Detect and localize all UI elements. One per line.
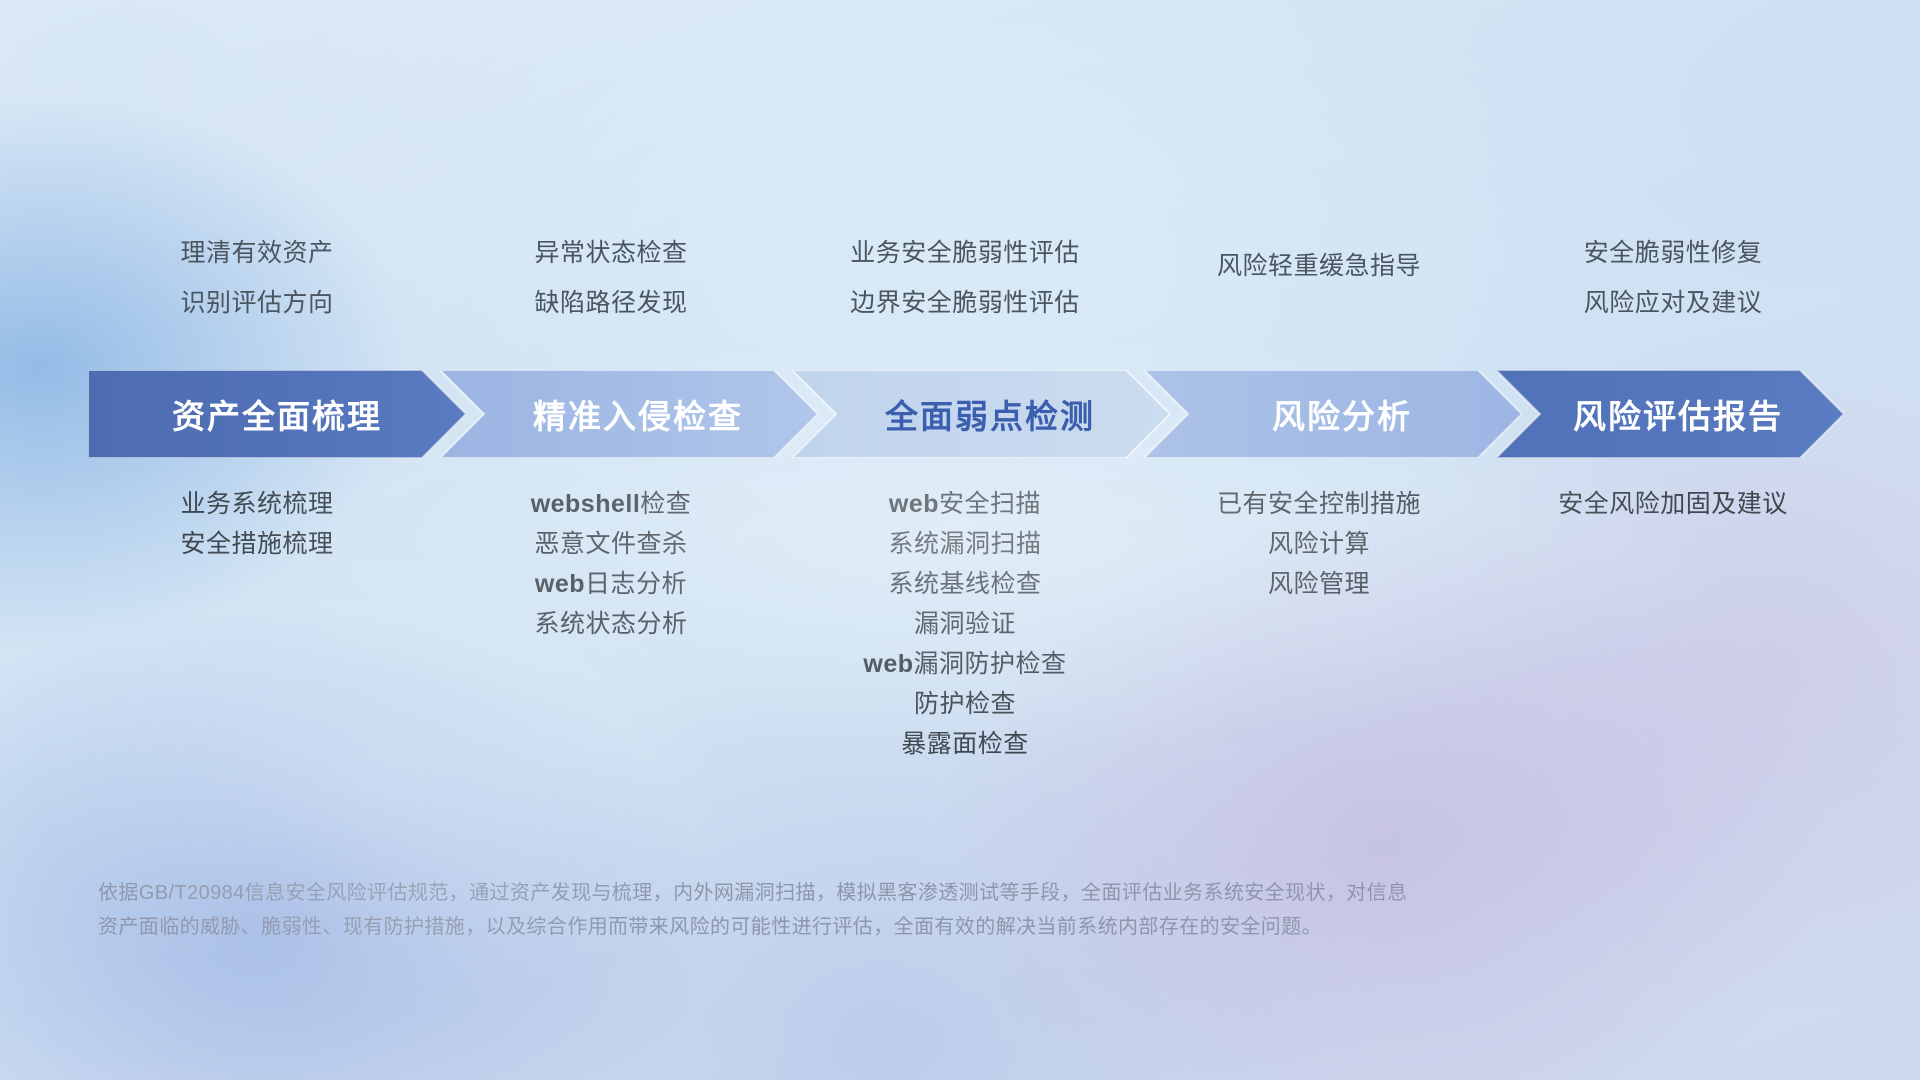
list-item: 恶意文件查杀 [434, 524, 788, 564]
list-item-rest: 日志分析 [585, 570, 687, 598]
list-item: 漏洞验证 [788, 604, 1142, 644]
list-item: 已有安全控制措施 [1142, 484, 1496, 524]
chevron-label: 风险评估报告 [1573, 390, 1783, 438]
list-item: 风险计算 [1142, 524, 1496, 564]
chevron-stage-asset-inventory[interactable]: 资产全面梳理 [88, 370, 466, 458]
chevron-label: 全面弱点检测 [885, 390, 1095, 438]
chevron-stage-risk-report[interactable]: 风险评估报告 [1496, 370, 1844, 458]
list-item-bold: webshell [531, 490, 641, 518]
list-item: 风险管理 [1142, 564, 1496, 604]
items-intrusion-check: webshell检查 恶意文件查杀 web日志分析 系统状态分析 [434, 484, 788, 764]
footer-description: 依据GB/T20984信息安全风险评估规范，通过资产发现与梳理，内外网漏洞扫描，… [98, 876, 1658, 944]
top-notes-weakness-detection: 业务安全脆弱性评估 边界安全脆弱性评估 [788, 228, 1142, 328]
slide-canvas: 理清有效资产 识别评估方向 异常状态检查 缺陷路径发现 业务安全脆弱性评估 边界… [0, 0, 1920, 1080]
list-item: web漏洞防护检查 [788, 644, 1142, 684]
top-notes-risk-report: 安全脆弱性修复 风险应对及建议 [1496, 228, 1850, 328]
list-item: 暴露面检查 [788, 724, 1142, 764]
chevron-stage-intrusion-check[interactable]: 精准入侵检查 [440, 370, 818, 458]
process-chevron-band: 资产全面梳理 精准入侵检查 [88, 370, 1844, 458]
footer-line-2: 资产面临的威胁、脆弱性、现有防护措施，以及综合作用而带来风险的可能性进行评估，全… [98, 910, 1658, 944]
top-note: 风险轻重缓急指导 [1142, 228, 1496, 304]
top-note: 异常状态检查 [434, 228, 788, 278]
list-item: 安全风险加固及建议 [1496, 484, 1850, 524]
chevron-stage-weakness-detection[interactable]: 全面弱点检测 [792, 370, 1170, 458]
list-item-rest: 检查 [640, 490, 691, 518]
top-notes-intrusion-check: 异常状态检查 缺陷路径发现 [434, 228, 788, 328]
list-item-bold: web [863, 650, 913, 678]
list-item: 系统状态分析 [434, 604, 788, 644]
list-item-rest: 漏洞防护检查 [914, 650, 1067, 678]
list-item: 系统基线检查 [788, 564, 1142, 604]
top-note: 风险应对及建议 [1496, 278, 1850, 328]
list-item: web日志分析 [434, 564, 788, 604]
chevron-label: 资产全面梳理 [172, 390, 382, 438]
list-item: web安全扫描 [788, 484, 1142, 524]
list-item: webshell检查 [434, 484, 788, 524]
list-item-bold: web [535, 570, 585, 598]
top-note: 理清有效资产 [80, 228, 434, 278]
top-notes-risk-analysis: 风险轻重缓急指导 [1142, 228, 1496, 328]
items-weakness-detection: web安全扫描 系统漏洞扫描 系统基线检查 漏洞验证 web漏洞防护检查 防护检… [788, 484, 1142, 764]
list-item-bold: web [889, 490, 939, 518]
items-asset-inventory: 业务系统梳理 安全措施梳理 [80, 484, 434, 764]
top-note: 安全脆弱性修复 [1496, 228, 1850, 278]
top-notes-asset-inventory: 理清有效资产 识别评估方向 [80, 228, 434, 328]
chevron-stage-risk-analysis[interactable]: 风险分析 [1144, 370, 1522, 458]
top-note: 识别评估方向 [80, 278, 434, 328]
top-note: 缺陷路径发现 [434, 278, 788, 328]
top-note: 业务安全脆弱性评估 [788, 228, 1142, 278]
list-item: 系统漏洞扫描 [788, 524, 1142, 564]
top-notes-row: 理清有效资产 识别评估方向 异常状态检查 缺陷路径发现 业务安全脆弱性评估 边界… [80, 228, 1850, 328]
chevron-label: 风险分析 [1272, 390, 1412, 438]
chevron-label: 精准入侵检查 [533, 390, 743, 438]
list-item: 业务系统梳理 [80, 484, 434, 524]
top-note: 边界安全脆弱性评估 [788, 278, 1142, 328]
items-risk-analysis: 已有安全控制措施 风险计算 风险管理 [1142, 484, 1496, 764]
list-item: 安全措施梳理 [80, 524, 434, 564]
items-risk-report: 安全风险加固及建议 [1496, 484, 1850, 764]
bottom-items-row: 业务系统梳理 安全措施梳理 webshell检查 恶意文件查杀 web日志分析 … [80, 484, 1850, 764]
list-item-rest: 安全扫描 [939, 490, 1041, 518]
footer-line-1: 依据GB/T20984信息安全风险评估规范，通过资产发现与梳理，内外网漏洞扫描，… [98, 876, 1658, 910]
list-item: 防护检查 [788, 684, 1142, 724]
